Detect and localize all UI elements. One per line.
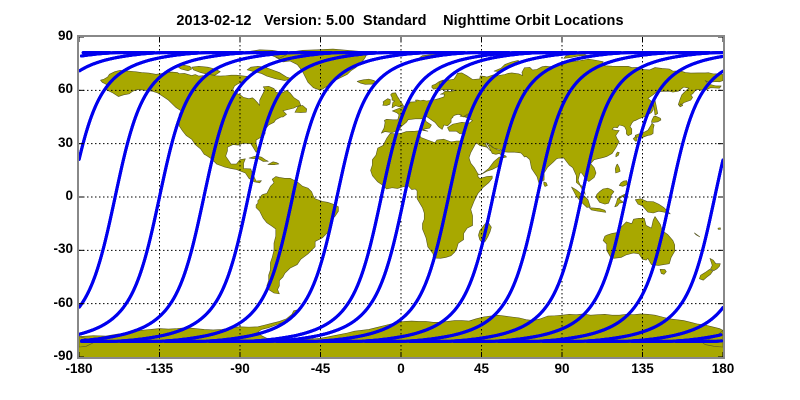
x-tick-label: -45 <box>291 361 351 376</box>
x-tick-label: 0 <box>371 361 431 376</box>
x-tick-label: 180 <box>693 361 753 376</box>
x-tick-label: -135 <box>130 361 190 376</box>
x-tick-label: 90 <box>532 361 592 376</box>
x-tick-label: 135 <box>613 361 673 376</box>
x-axis-tick-labels: -180-135-90-4504590135180 <box>0 0 800 400</box>
x-tick-label: -180 <box>49 361 109 376</box>
orbit-map-figure: 2013-02-12 Version: 5.00 Standard Nightt… <box>0 0 800 400</box>
x-tick-label: 45 <box>452 361 512 376</box>
x-tick-label: -90 <box>210 361 270 376</box>
